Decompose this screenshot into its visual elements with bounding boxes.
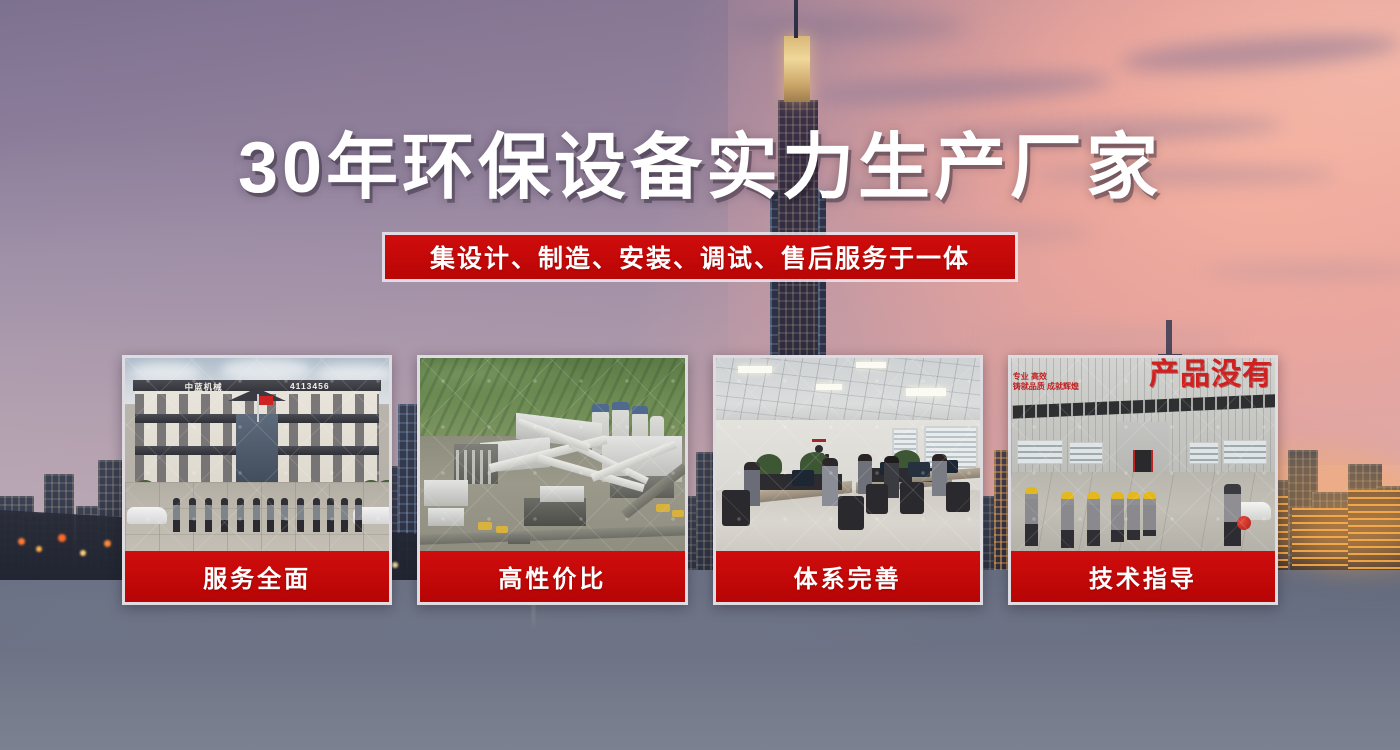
subtitle-banner: 集设计、制造、安装、调试、售后服务于一体 <box>382 232 1018 282</box>
feature-card-service[interactable]: 中蓝机械 4113456 <box>122 355 392 605</box>
card-label-training: 技术指导 <box>1011 551 1275 602</box>
promo-banner: 30年环保设备实力生产厂家 集设计、制造、安装、调试、售后服务于一体 <box>0 0 1400 750</box>
warehouse-slogan: 专业 高效 铸就品质 成就辉煌 <box>1013 372 1079 392</box>
subtitle-banner-fill: 集设计、制造、安装、调试、售后服务于一体 <box>385 235 1015 279</box>
feature-card-training[interactable]: 产品没有 专业 高效 铸就品质 成就辉煌 <box>1008 355 1278 605</box>
card-label-system: 体系完善 <box>716 551 980 602</box>
skyscraper-crown <box>784 36 810 102</box>
card-label-text: 高性价比 <box>498 559 606 594</box>
skyscraper-spire <box>794 0 798 38</box>
warehouse-slogan-line1: 专业 高效 <box>1013 372 1079 382</box>
card-photo-office-interior <box>716 358 980 554</box>
card-photo-headquarters: 中蓝机械 4113456 <box>125 358 389 554</box>
phone-sign: 4113456 <box>290 381 330 393</box>
card-label-text: 技术指导 <box>1089 559 1197 594</box>
feature-card-system[interactable]: 体系完善 <box>713 355 983 605</box>
warehouse-banner-text: 产品没有 <box>1149 360 1273 390</box>
card-photo-plant-aerial <box>420 358 684 554</box>
page-title: 30年环保设备实力生产厂家 <box>0 132 1400 204</box>
feature-card-value[interactable]: 高性价比 <box>417 355 687 605</box>
red-safety-helmet <box>1237 516 1251 530</box>
card-label-value: 高性价比 <box>420 551 684 602</box>
card-photo-worker-briefing: 产品没有 专业 高效 铸就品质 成就辉煌 <box>1011 358 1275 554</box>
company-name-sign: 中蓝机械 <box>185 381 223 393</box>
subtitle-text: 集设计、制造、安装、调试、售后服务于一体 <box>430 239 970 275</box>
card-label-text: 体系完善 <box>794 559 902 594</box>
building-signage: 中蓝机械 4113456 <box>125 381 389 393</box>
card-label-text: 服务全面 <box>203 559 311 594</box>
warehouse-slogan-line2: 铸就品质 成就辉煌 <box>1013 382 1079 392</box>
feature-card-row: 中蓝机械 4113456 <box>122 355 1278 605</box>
card-label-service: 服务全面 <box>125 551 389 602</box>
